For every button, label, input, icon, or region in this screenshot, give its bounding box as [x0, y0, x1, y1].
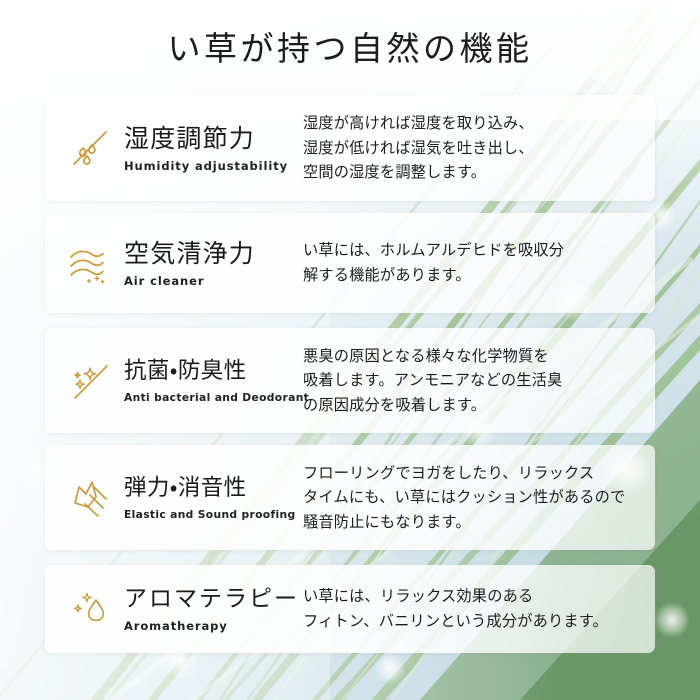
description-line: 騒音防止にもなります。	[303, 510, 643, 535]
title-block: 湿度調節力 Humidity adjustability	[119, 123, 288, 173]
feature-description: フローリングでヨガをしたり、リラックス タイムにも、い草にはクッション性があるの…	[303, 461, 655, 535]
feature-title-jp: 抗菌・防臭性	[124, 357, 309, 385]
feature-title-jp: 湿度調節力	[124, 123, 288, 154]
feature-title-en: Aromatherapy	[124, 619, 299, 633]
description-line: の原因成分を吸着します。	[303, 393, 643, 418]
card-heading-group: 湿度調節力 Humidity adjustability	[45, 120, 303, 176]
feature-description: い草には、リラックス効果のある フィトン、バニリンという成分があります。	[303, 584, 655, 633]
feature-card-elastic: 弾力・消音性 Elastic and Sound proofing フローリング…	[45, 445, 655, 550]
feature-title-en: Elastic and Sound proofing	[124, 508, 295, 521]
feature-card-humidity: 湿度調節力 Humidity adjustability 湿度が高ければ湿度を取…	[45, 95, 655, 201]
page-title: い草が持つ自然の機能	[0, 28, 700, 69]
description-line: 吸着します。アンモニアなどの生活臭	[303, 368, 643, 393]
description-line: フローリングでヨガをしたり、リラックス	[303, 461, 643, 486]
card-heading-group: 抗菌・防臭性 Anti bacterial and Deodorant	[45, 353, 303, 409]
feature-title-en: Anti bacterial and Deodorant	[124, 391, 309, 404]
description-line: 悪臭の原因となる様々な化学物質を	[303, 344, 643, 369]
description-line: 空間の湿度を調整します。	[303, 160, 643, 185]
feature-title-en: Air cleaner	[124, 274, 255, 288]
sparkle-clean-icon	[63, 353, 119, 409]
feature-description: 湿度が高ければ湿度を取り込み、 湿度が低ければ湿気を吐き出し、 空間の湿度を調整…	[303, 111, 655, 185]
feature-card-aromatherapy: アロマテラピー Aromatherapy い草には、リラックス効果のある フィト…	[45, 565, 655, 653]
feature-title-jp: 弾力・消音性	[124, 474, 295, 502]
card-heading-group: アロマテラピー Aromatherapy	[45, 581, 303, 637]
feature-description: い草には、ホルムアルデヒドを吸収分 解する機能があります。	[303, 238, 655, 287]
feature-title-en: Humidity adjustability	[124, 159, 288, 173]
title-block: アロマテラピー Aromatherapy	[119, 585, 299, 633]
air-flow-lines-icon	[63, 235, 119, 291]
description-line: い草には、リラックス効果のある	[303, 584, 643, 609]
card-heading-group: 弾力・消音性 Elastic and Sound proofing	[45, 470, 303, 526]
description-line: フィトン、バニリンという成分があります。	[303, 609, 643, 634]
description-line: 湿度が高ければ湿度を取り込み、	[303, 111, 643, 136]
feature-card-anti-bacterial: 抗菌・防臭性 Anti bacterial and Deodorant 悪臭の原…	[45, 328, 655, 433]
title-block: 抗菌・防臭性 Anti bacterial and Deodorant	[119, 357, 309, 403]
feature-title-jp: アロマテラピー	[124, 585, 299, 614]
feature-card-air-cleaner: 空気清浄力 Air cleaner い草には、ホルムアルデヒドを吸収分 解する機…	[45, 213, 655, 313]
title-block: 弾力・消音性 Elastic and Sound proofing	[119, 474, 295, 520]
title-block: 空気清浄力 Air cleaner	[119, 238, 255, 288]
feature-description: 悪臭の原因となる様々な化学物質を 吸着します。アンモニアなどの生活臭 の原因成分…	[303, 344, 655, 418]
aroma-droplet-icon	[63, 581, 119, 637]
description-line: い草には、ホルムアルデヒドを吸収分	[303, 238, 643, 263]
humidity-droplets-icon	[63, 120, 119, 176]
description-line: タイムにも、い草にはクッション性があるので	[303, 485, 643, 510]
card-heading-group: 空気清浄力 Air cleaner	[45, 235, 303, 291]
description-line: 解する機能があります。	[303, 263, 643, 288]
description-line: 湿度が低ければ湿気を吐き出し、	[303, 136, 643, 161]
feature-title-jp: 空気清浄力	[124, 238, 255, 269]
bounce-elastic-icon	[63, 470, 119, 526]
